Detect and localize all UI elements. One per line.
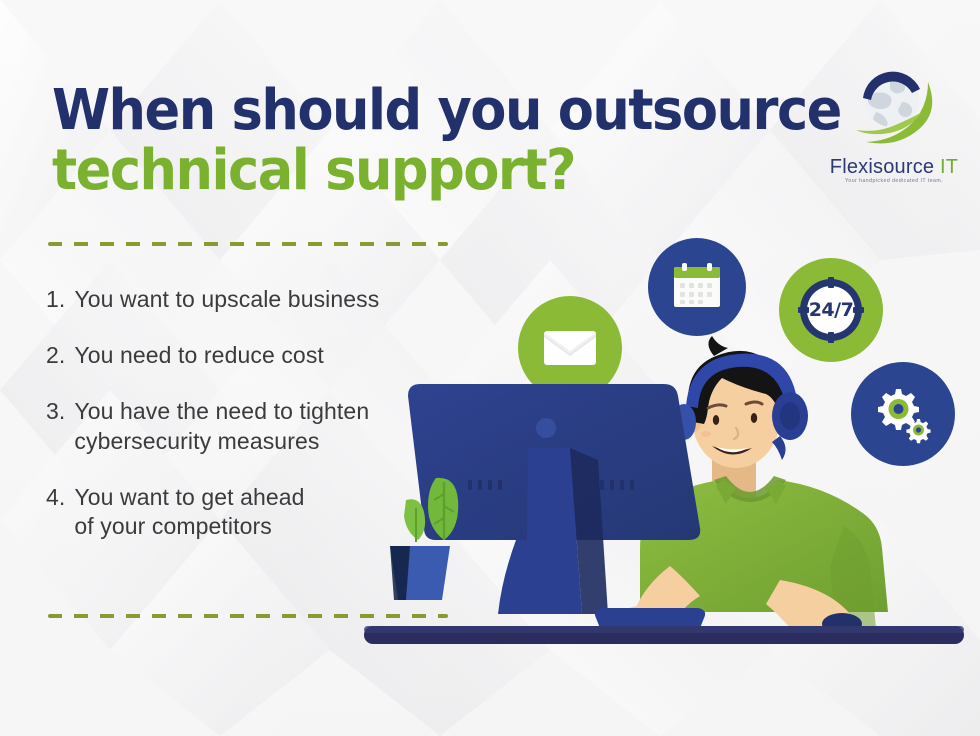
- globe-swoosh-icon: [846, 62, 942, 158]
- desk-bar: [364, 626, 964, 644]
- badge-calendar: [648, 238, 746, 336]
- illustration-workspace: [350, 330, 980, 670]
- logo-wordmark: Flexisource IT: [818, 156, 970, 179]
- list-item-number: 3.: [46, 397, 65, 427]
- title-line-1: When should you outsource: [52, 84, 795, 138]
- list-item-number: 2.: [46, 341, 65, 371]
- brand-logo[interactable]: Flexisource IT Your handpicked dedicated…: [818, 62, 970, 190]
- list-item-text: You want to upscale business: [74, 285, 476, 315]
- infographic-canvas: When should you outsource technical supp…: [0, 0, 980, 736]
- keyboard: [595, 608, 705, 628]
- list-item-number: 1.: [46, 285, 65, 315]
- logo-word-suffix: IT: [940, 156, 958, 178]
- list-item-number: 4.: [46, 483, 65, 513]
- logo-word-primary: Flexisource: [830, 156, 934, 178]
- dashed-divider-top: [48, 242, 448, 246]
- logo-tagline: Your handpicked dedicated IT team.: [818, 178, 970, 184]
- title-line-2: technical support?: [52, 144, 795, 198]
- page-title: When should you outsource technical supp…: [52, 84, 842, 198]
- calendar-icon: [671, 262, 723, 312]
- list-item: 1. You want to upscale business: [46, 285, 476, 315]
